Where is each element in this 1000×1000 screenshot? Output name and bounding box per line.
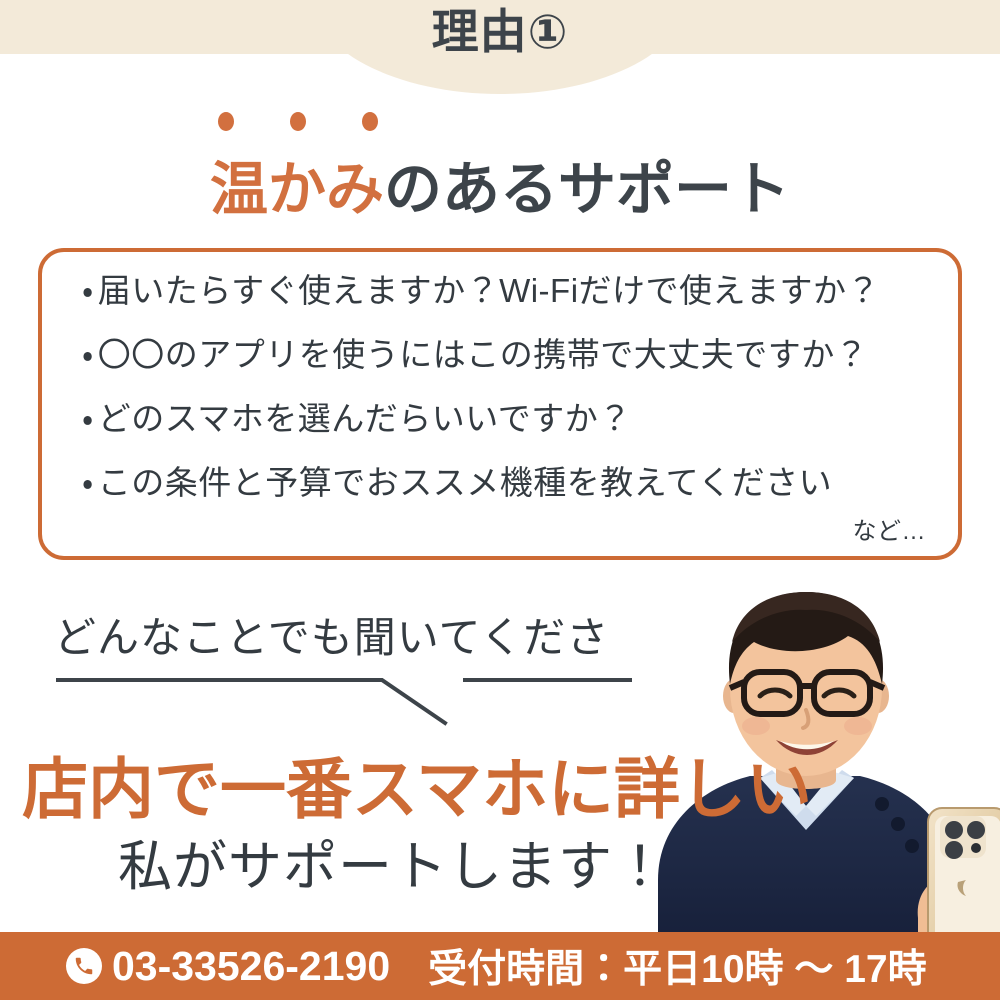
- question-text: 〇〇のアプリを使うにはこの携帯で大丈夫ですか？: [98, 336, 869, 373]
- emphasis-dot-icon: [362, 112, 378, 131]
- emphasis-dots: [218, 112, 378, 131]
- callout-subline: どんなことでも聞いてください！: [54, 604, 695, 665]
- speech-bubble-underline-icon: [40, 668, 700, 728]
- phone-icon: [66, 948, 102, 984]
- footer-business-hours: 受付時間：平日10時 〜 17時: [428, 938, 926, 994]
- poster-root: 理由① 温かみのあるサポート ・届いたらすぐ使えますか？Wi-Fiだけで使えます…: [0, 0, 1000, 1000]
- question-text: この条件と予算でおススメ機種を教えてください: [98, 464, 832, 501]
- question-list-item: ・どのスマホを選んだらいいですか？: [82, 402, 940, 435]
- main-heading-accent: 温かみ: [210, 157, 384, 222]
- footer-bar: 03-33526-2190 受付時間：平日10時 〜 17時: [0, 932, 1000, 1000]
- question-text: 届いたらすぐ使えますか？Wi-Fiだけで使えますか？: [98, 272, 880, 309]
- main-heading-rest: のあるサポート: [384, 157, 790, 222]
- banner-title: 理由①: [0, 6, 1000, 58]
- question-list-item: ・届いたらすぐ使えますか？Wi-Fiだけで使えますか？: [82, 274, 940, 307]
- emphasis-dot-icon: [290, 112, 306, 131]
- bullet-marker-icon: ・: [82, 464, 94, 501]
- question-box-note: など…: [853, 511, 927, 546]
- sub-headline: 私がサポートします！: [118, 822, 668, 901]
- big-headline: 店内で一番スマホに詳しい: [22, 736, 812, 832]
- question-list: ・届いたらすぐ使えますか？Wi-Fiだけで使えますか？ ・〇〇のアプリを使うには…: [82, 274, 940, 499]
- main-heading: 温かみのあるサポート: [0, 142, 1000, 226]
- footer-phone-group[interactable]: 03-33526-2190: [66, 943, 390, 990]
- emphasis-dot-icon: [218, 112, 234, 131]
- question-box: ・届いたらすぐ使えますか？Wi-Fiだけで使えますか？ ・〇〇のアプリを使うには…: [38, 248, 962, 560]
- question-list-item: ・〇〇のアプリを使うにはこの携帯で大丈夫ですか？: [82, 338, 940, 371]
- bullet-marker-icon: ・: [82, 336, 94, 373]
- bullet-marker-icon: ・: [82, 400, 94, 437]
- bullet-marker-icon: ・: [82, 272, 94, 309]
- footer-phone-number: 03-33526-2190: [112, 943, 390, 990]
- question-list-item: ・この条件と予算でおススメ機種を教えてください: [82, 466, 940, 499]
- question-text: どのスマホを選んだらいいですか？: [98, 400, 632, 437]
